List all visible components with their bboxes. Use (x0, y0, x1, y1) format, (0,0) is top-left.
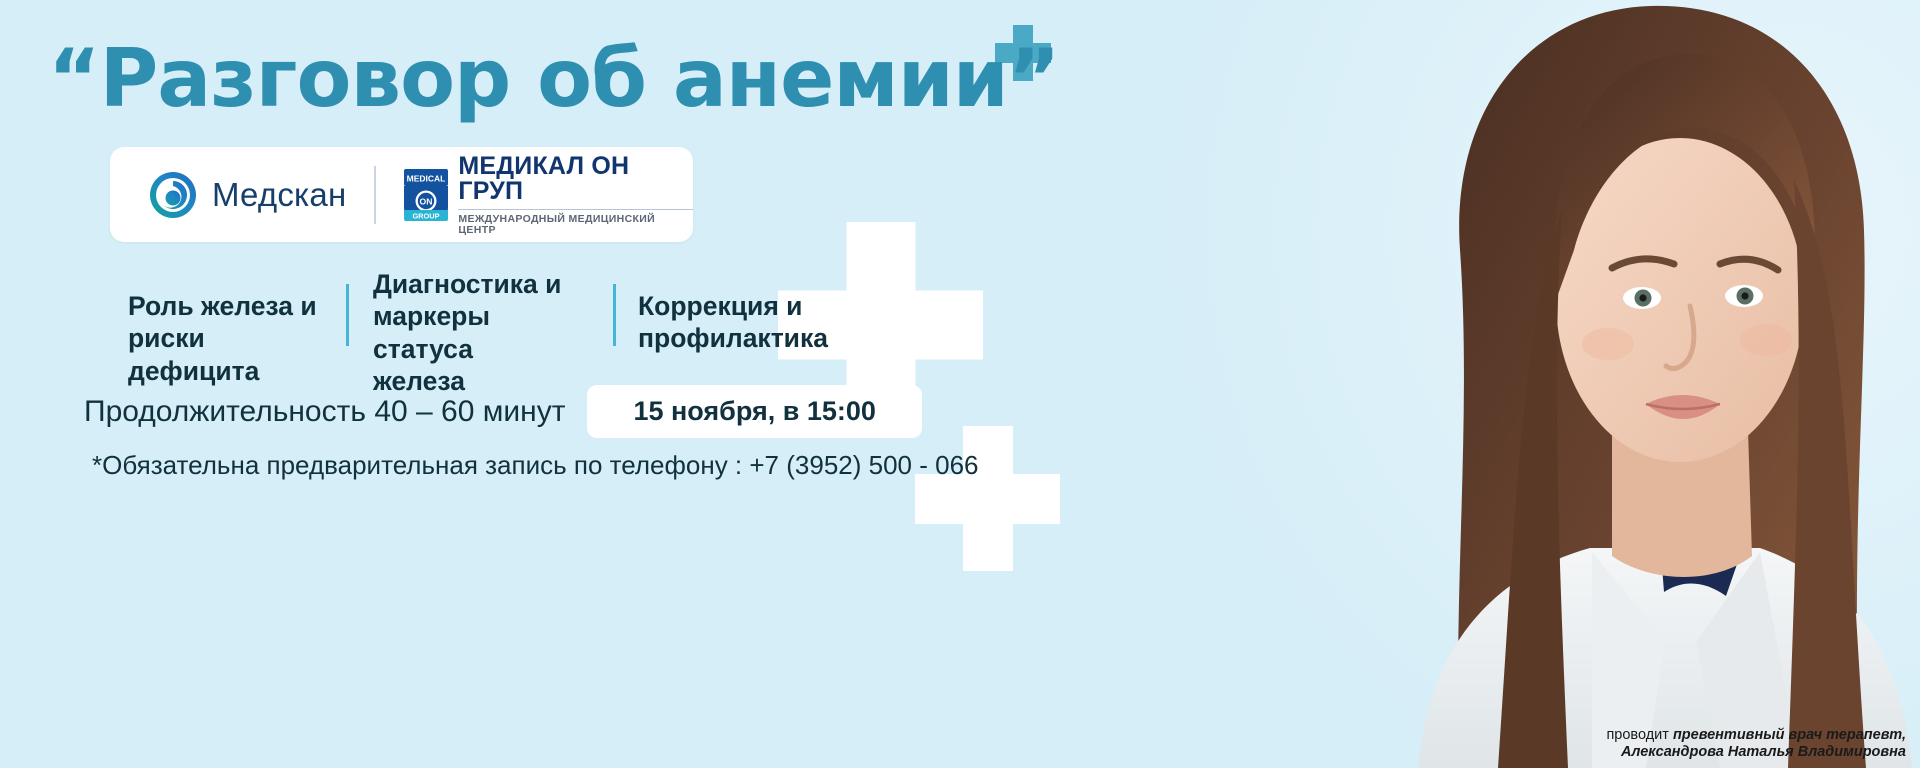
svg-text:MEDICAL: MEDICAL (407, 173, 446, 183)
logo-rule (458, 209, 693, 210)
presenter-name: Александрова Наталья Владимировна (1606, 744, 1906, 762)
medical-on-group-icon: MEDICAL ON GROUP (404, 169, 448, 221)
feature-divider-1 (346, 284, 349, 346)
presenter-role: превентивный врач терапевт, (1673, 727, 1906, 743)
presenter-lead: проводит (1606, 727, 1673, 743)
logo-divider (374, 166, 376, 224)
feature-item-3: Коррекция и профилактика (638, 268, 838, 355)
presenter-credit: проводит превентивный врач терапевт, Але… (1606, 727, 1906, 762)
medskan-wordmark: Медскан (212, 176, 346, 214)
svg-text:ON: ON (420, 196, 433, 206)
medical-cross-icon-medium (915, 426, 1060, 571)
feature-list: Роль железа и риски дефицита Диагностика… (128, 268, 838, 397)
feature-divider-2 (613, 284, 616, 346)
medskan-spiral-icon (148, 170, 198, 220)
medical-on-group-subtitle: МЕЖДУНАРОДНЫЙ МЕДИЦИНСКИЙ ЦЕНТР (458, 214, 693, 235)
duration-label: Продолжительность 40 – 60 минут (84, 395, 565, 429)
promo-banner: “Разговор об анемии” Мед (0, 0, 1920, 768)
event-date-badge: 15 ноября, в 15:00 (587, 385, 921, 438)
medskan-logo: Медскан (110, 170, 346, 220)
headline: “Разговор об анемии” (48, 38, 1059, 120)
partner-logo-card: Медскан MEDICAL ON GROUP МЕДИКАЛ ОН ГРУП (110, 147, 693, 242)
doctor-photo (1160, 0, 1920, 768)
svg-text:GROUP: GROUP (413, 211, 440, 220)
feature-item-1: Роль железа и риски дефицита (128, 268, 328, 387)
medical-on-group-title: МЕДИКАЛ ОН ГРУП (458, 154, 693, 204)
feature-item-2: Диагностика и маркеры статуса железа (373, 268, 591, 397)
duration-row: Продолжительность 40 – 60 минут 15 ноябр… (84, 385, 922, 438)
medical-on-group-logo: MEDICAL ON GROUP МЕДИКАЛ ОН ГРУП МЕЖДУНА… (404, 154, 693, 235)
booking-note: *Обязательна предварительная запись по т… (92, 450, 979, 481)
